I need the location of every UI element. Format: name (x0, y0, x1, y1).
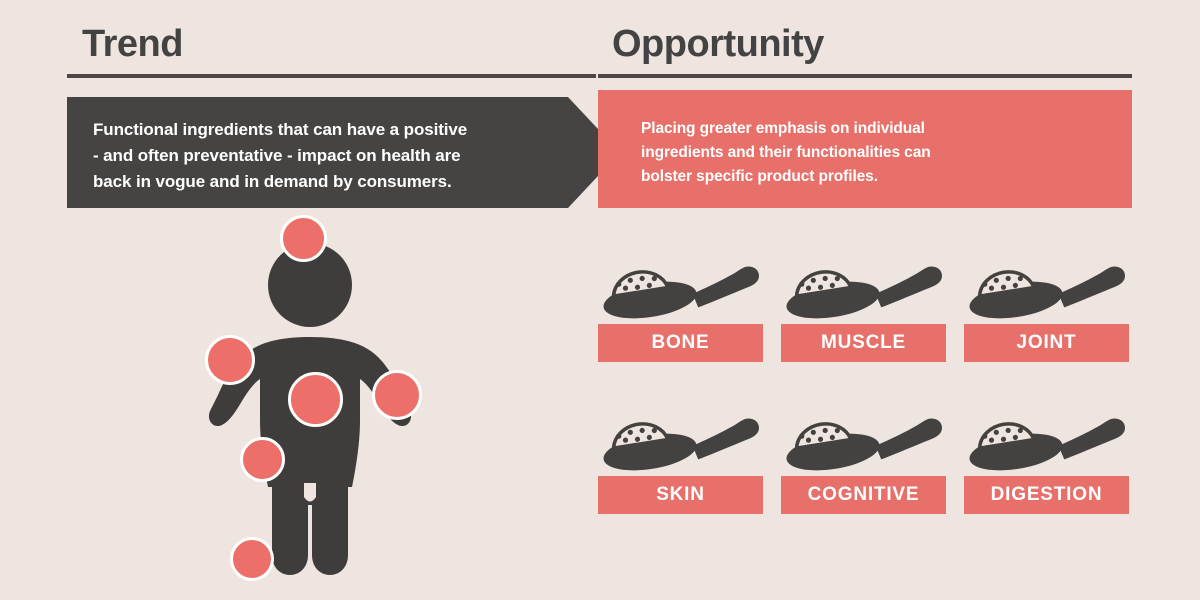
body-zone-dot-hip-left (240, 437, 285, 482)
benefit-card-cognitive[interactable]: COGNITIVE (781, 414, 946, 514)
powder-spoon-icon (598, 414, 763, 476)
trend-banner-text: Functional ingredients that can have a p… (93, 117, 543, 195)
benefit-card-label: DIGESTION (964, 476, 1129, 514)
benefit-card-label: SKIN (598, 476, 763, 514)
infographic-canvas: Trend Opportunity Functional ingredients… (0, 0, 1200, 600)
divider-trend (67, 74, 596, 78)
page-title-trend: Trend (82, 25, 183, 63)
powder-spoon-icon (964, 262, 1129, 324)
benefit-card-label: JOINT (964, 324, 1129, 362)
page-title-opportunity: Opportunity (612, 25, 824, 63)
benefit-card-digestion[interactable]: DIGESTION (964, 414, 1129, 514)
body-zone-dot-head (280, 215, 327, 262)
benefit-card-label: COGNITIVE (781, 476, 946, 514)
human-body-diagram (180, 215, 480, 590)
body-zone-dot-hand-right (372, 370, 422, 420)
powder-spoon-icon (781, 414, 946, 476)
benefit-card-grid: BONE MUSCLE (598, 262, 1138, 532)
powder-spoon-icon (598, 262, 763, 324)
body-zone-dot-foot-left (230, 537, 274, 581)
benefit-card-label: BONE (598, 324, 763, 362)
divider-opportunity (598, 74, 1132, 78)
powder-spoon-icon (781, 262, 946, 324)
benefit-card-bone[interactable]: BONE (598, 262, 763, 362)
powder-spoon-icon (964, 414, 1129, 476)
body-zone-dot-shoulder-left (205, 335, 255, 385)
body-zone-dot-abdomen (288, 372, 343, 427)
benefit-card-label: MUSCLE (781, 324, 946, 362)
opportunity-banner-text: Placing greater emphasis on individual i… (641, 117, 1041, 189)
benefit-card-muscle[interactable]: MUSCLE (781, 262, 946, 362)
benefit-card-skin[interactable]: SKIN (598, 414, 763, 514)
benefit-card-joint[interactable]: JOINT (964, 262, 1129, 362)
